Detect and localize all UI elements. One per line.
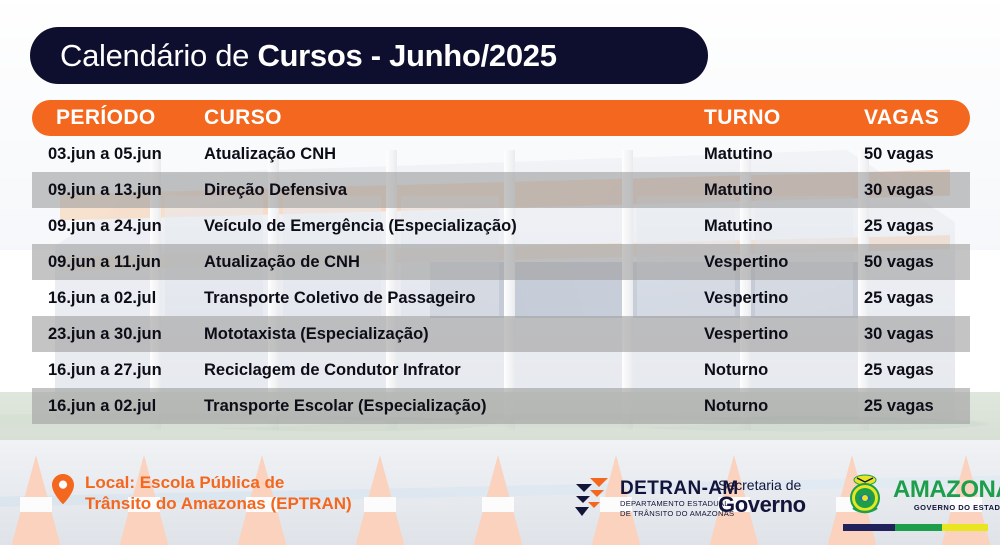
amazonas-wordmark: AMAZONAS GOVERNO DO ESTADO xyxy=(893,478,1000,512)
cell-turno: Noturno xyxy=(704,397,864,416)
tricolor-segment-green xyxy=(895,524,941,531)
governo-line1: Secretaria de xyxy=(718,478,806,493)
cell-curso: Transporte Coletivo de Passageiro xyxy=(204,289,704,308)
cell-periodo: 16.jun a 27.jun xyxy=(48,361,228,380)
tricolor-segment-yellow xyxy=(942,524,988,531)
amazonas-tricolor-bar xyxy=(843,524,988,531)
cell-vagas: 30 vagas xyxy=(864,325,974,344)
amazonas-coat-of-arms-icon xyxy=(843,472,887,518)
page-title-prefix: Calendário de xyxy=(60,38,257,73)
cell-vagas: 50 vagas xyxy=(864,145,974,164)
cell-curso: Reciclagem de Condutor Infrator xyxy=(204,361,704,380)
detran-am-logo: DETRAN-AM DEPARTAMENTO ESTADUAL DE TRÂNS… xyxy=(570,476,739,520)
cell-curso: Mototaxista (Especialização) xyxy=(204,325,704,344)
table-row: 16.jun a 27.jun Reciclagem de Condutor I… xyxy=(32,352,970,388)
table-row: 09.jun a 11.jun Atualização de CNH Vespe… xyxy=(32,244,970,280)
cell-periodo: 09.jun a 11.jun xyxy=(48,253,228,272)
cell-curso: Veículo de Emergência (Especialização) xyxy=(204,217,704,236)
page-title-emphasis: Cursos - Junho/2025 xyxy=(257,38,556,73)
location-info: Local: Escola Pública de Trânsito do Ama… xyxy=(52,472,352,514)
table-row: 16.jun a 02.jul Transporte Coletivo de P… xyxy=(32,280,970,316)
amazonas-subtitle: GOVERNO DO ESTADO xyxy=(893,504,1000,512)
table-row: 03.jun a 05.jun Atualização CNH Matutino… xyxy=(32,136,970,172)
cell-curso: Atualização de CNH xyxy=(204,253,704,272)
cell-curso: Atualização CNH xyxy=(204,145,704,164)
amazonas-logo: AMAZONAS GOVERNO DO ESTADO xyxy=(843,472,1000,518)
cell-vagas: 25 vagas xyxy=(864,397,974,416)
cell-turno: Matutino xyxy=(704,145,864,164)
secretaria-governo-logo: Secretaria de Governo xyxy=(718,478,806,516)
traffic-cone xyxy=(472,455,524,545)
map-pin-icon xyxy=(52,474,74,504)
table-header-row: PERÍODO CURSO TURNO VAGAS xyxy=(32,100,970,136)
cell-vagas: 25 vagas xyxy=(864,289,974,308)
column-header-curso: CURSO xyxy=(204,106,704,130)
cell-turno: Vespertino xyxy=(704,325,864,344)
cell-vagas: 25 vagas xyxy=(864,361,974,380)
location-text: Local: Escola Pública de Trânsito do Ama… xyxy=(85,472,352,514)
page-title: Calendário de Cursos - Junho/2025 xyxy=(60,38,557,74)
cell-turno: Noturno xyxy=(704,361,864,380)
table-row: 09.jun a 24.jun Veículo de Emergência (E… xyxy=(32,208,970,244)
cell-periodo: 09.jun a 13.jun xyxy=(48,181,228,200)
traffic-cone xyxy=(354,455,406,545)
poster-canvas: Calendário de Cursos - Junho/2025 PERÍOD… xyxy=(0,0,1000,545)
cell-turno: Matutino xyxy=(704,217,864,236)
cell-periodo: 09.jun a 24.jun xyxy=(48,217,228,236)
amazonas-name: AMAZONAS xyxy=(893,478,1000,502)
tricolor-segment-navy xyxy=(843,524,895,531)
cell-vagas: 50 vagas xyxy=(864,253,974,272)
cell-turno: Vespertino xyxy=(704,289,864,308)
column-header-vagas: VAGAS xyxy=(864,106,974,130)
table-row: 16.jun a 02.jul Transporte Escolar (Espe… xyxy=(32,388,970,424)
cell-curso: Direção Defensiva xyxy=(204,181,704,200)
cell-turno: Vespertino xyxy=(704,253,864,272)
cell-periodo: 03.jun a 05.jun xyxy=(48,145,228,164)
page-title-banner: Calendário de Cursos - Junho/2025 xyxy=(30,27,708,84)
table-row: 09.jun a 13.jun Direção Defensiva Matuti… xyxy=(32,172,970,208)
column-header-turno: TURNO xyxy=(704,106,864,130)
cell-periodo: 16.jun a 02.jul xyxy=(48,289,228,308)
governo-line2: Governo xyxy=(718,493,806,516)
detran-arrows-icon xyxy=(570,476,614,520)
courses-table: PERÍODO CURSO TURNO VAGAS 03.jun a 05.ju… xyxy=(32,100,970,424)
cell-turno: Matutino xyxy=(704,181,864,200)
cell-periodo: 23.jun a 30.jun xyxy=(48,325,228,344)
cell-periodo: 16.jun a 02.jul xyxy=(48,397,228,416)
table-row: 23.jun a 30.jun Mototaxista (Especializa… xyxy=(32,316,970,352)
cell-vagas: 30 vagas xyxy=(864,181,974,200)
cell-curso: Transporte Escolar (Especialização) xyxy=(204,397,704,416)
cell-vagas: 25 vagas xyxy=(864,217,974,236)
